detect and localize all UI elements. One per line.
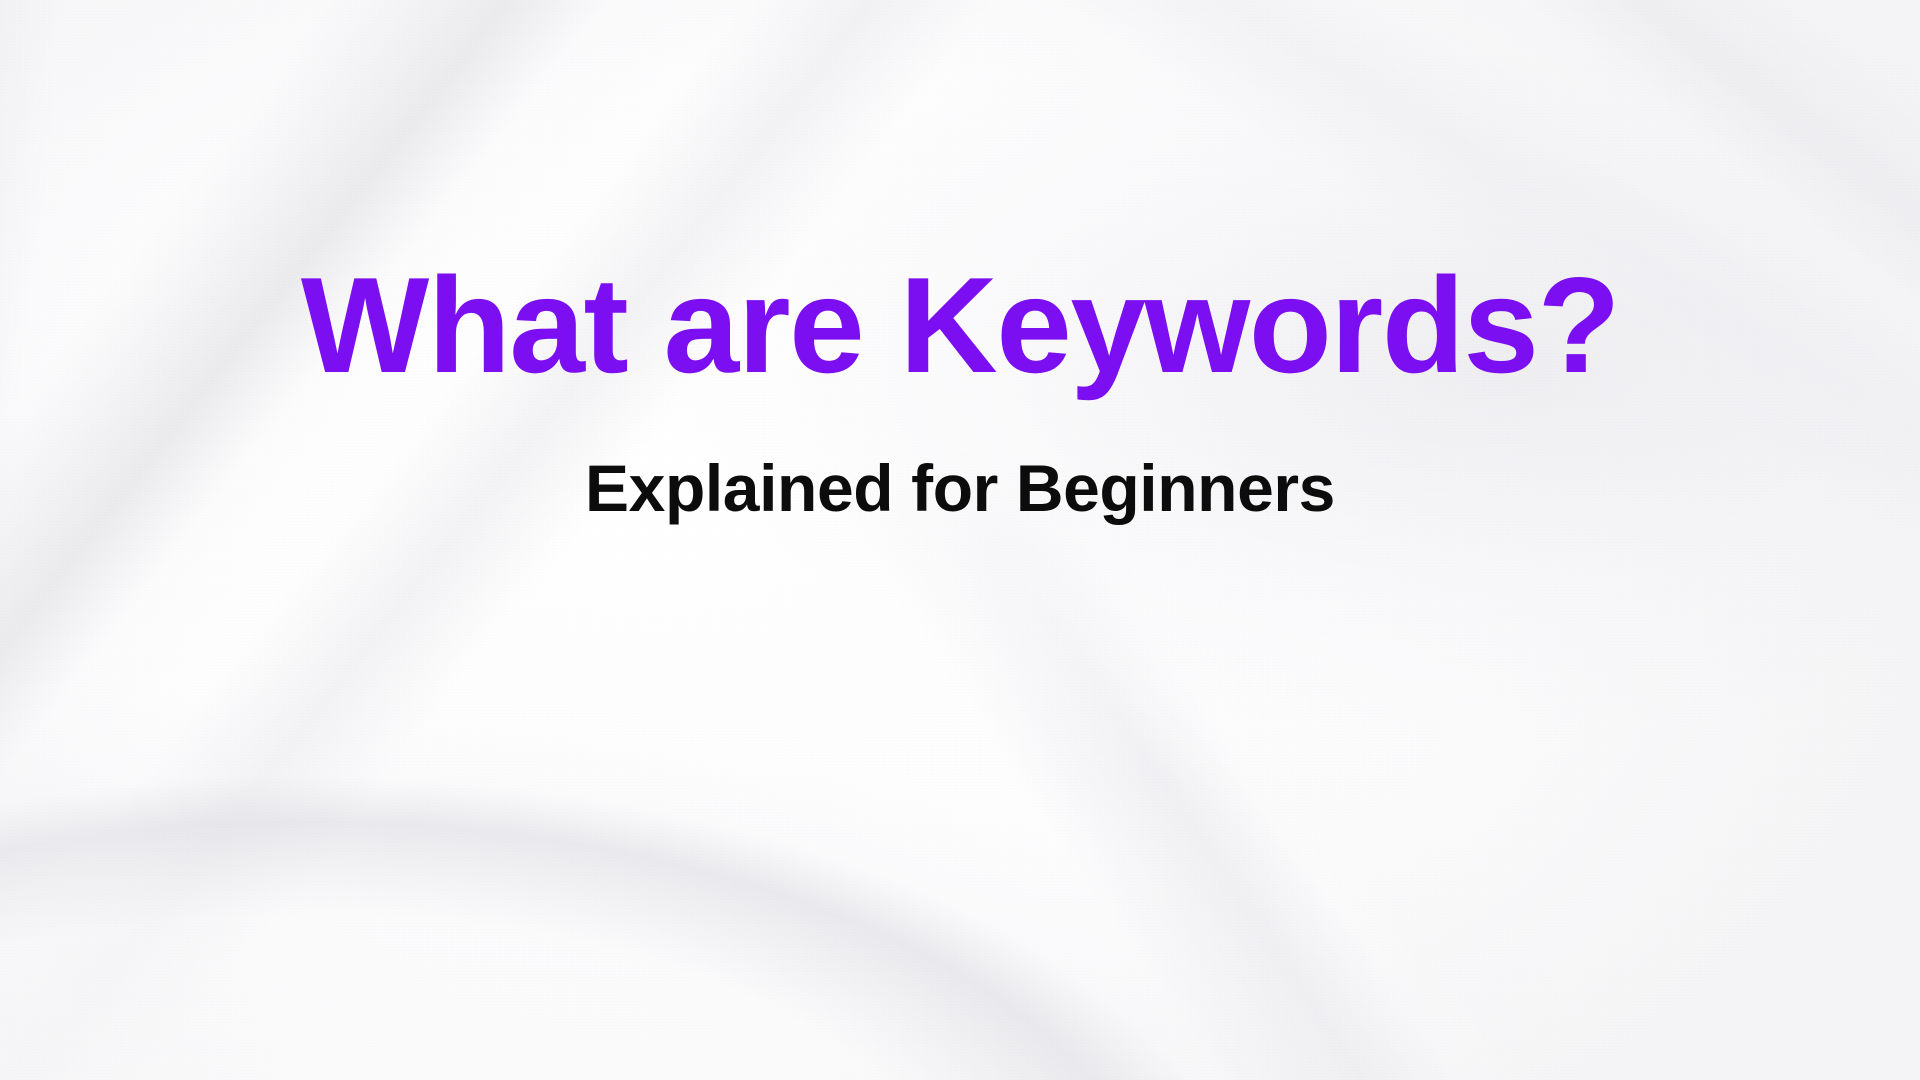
headline-block: What are Keywords? Explained for Beginne… bbox=[0, 0, 1920, 1080]
page-subtitle: Explained for Beginners bbox=[0, 452, 1920, 526]
page-title: What are Keywords? bbox=[0, 253, 1920, 397]
title-slide: What are Keywords? Explained for Beginne… bbox=[0, 0, 1920, 1080]
